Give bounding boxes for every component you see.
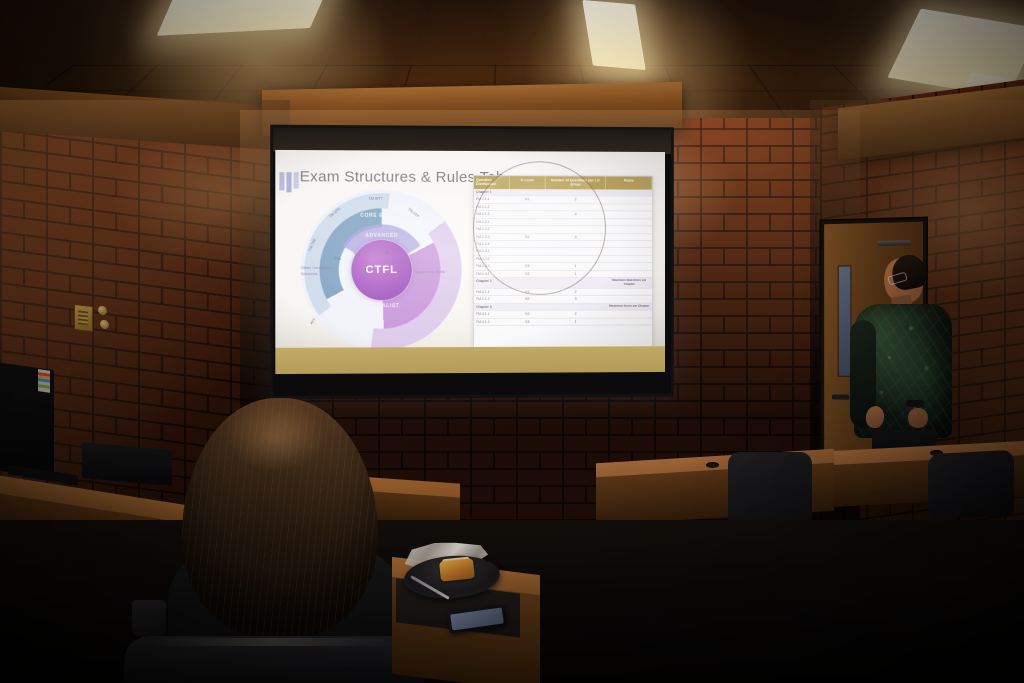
table-cell-distribution: FM-1.4.1 bbox=[474, 271, 510, 277]
wheel-tag-7: ATT bbox=[309, 318, 316, 326]
istqb-certification-wheel: CORE EXPERT ADVANCED SPECIALIST CTFL Oth… bbox=[298, 186, 465, 364]
table-cell-distribution: FM-2.1.1 bbox=[474, 289, 510, 295]
table-cell-rules bbox=[606, 189, 652, 196]
screen-surface: Exam Structures & Rules Tab CORE EXPERT … bbox=[275, 150, 665, 374]
wheel-center-ctfl: CTFL bbox=[351, 240, 411, 300]
chair-far-right[interactable] bbox=[928, 450, 1014, 521]
table-cell-distribution: FM-3.1.1 bbox=[474, 311, 510, 318]
table-row: FM-3.1.2K31 bbox=[474, 318, 652, 326]
table-col-klevel: K-Level bbox=[510, 176, 545, 189]
wheel-tag-4: TM bbox=[354, 253, 359, 257]
table-col-rules: Rules bbox=[606, 177, 652, 190]
table-cell-distribution: Chapter 1 bbox=[474, 189, 510, 196]
table-cell-distribution: FM-3.1.2 bbox=[474, 318, 510, 325]
table-cell-klevel bbox=[510, 304, 545, 310]
table-body: Chapter 1FM-1.1.1K12FM-1.1.2FM-1.1.34FM-… bbox=[474, 189, 652, 326]
table-header-row: Question Distribution K-Level Number of … bbox=[474, 176, 652, 190]
cable-grommet-2 bbox=[706, 462, 719, 468]
door-push-bar[interactable] bbox=[877, 240, 911, 246]
table-cell-questions: 1 bbox=[545, 271, 607, 277]
presentation-slide: Exam Structures & Rules Tab CORE EXPERT … bbox=[275, 150, 665, 374]
wheel-tag-5: TA bbox=[385, 251, 389, 255]
standing-presenter bbox=[846, 258, 958, 458]
wheel-label-specialist: SPECIALIST bbox=[346, 303, 417, 309]
table-cell-rules bbox=[606, 204, 652, 210]
table-cell-rules bbox=[606, 271, 652, 277]
table-cell-distribution: FM-2.1.2 bbox=[474, 296, 510, 302]
exam-structure-table: Question Distribution K-Level Number of … bbox=[473, 175, 653, 363]
table-cell-rules bbox=[606, 296, 652, 302]
wristwatch bbox=[906, 400, 924, 407]
slide-decoration-bars bbox=[279, 172, 298, 192]
table-cell-klevel bbox=[510, 226, 545, 232]
table-row: FM-1.3.3K31 bbox=[474, 263, 652, 270]
smartphone-screen[interactable] bbox=[450, 607, 504, 630]
table-row: Chapter 2Maximum Questions per Chapter bbox=[474, 278, 652, 289]
table-cell-rules bbox=[606, 289, 652, 295]
table-cell-questions: 4 bbox=[545, 211, 607, 218]
table-cell-klevel: K2 bbox=[510, 311, 545, 317]
table-cell-rules bbox=[606, 241, 652, 247]
table-cell-distribution: Chapter 3 bbox=[474, 304, 510, 310]
table-cell-distribution: FM-1.1.1 bbox=[474, 196, 510, 203]
table-cell-distribution: FM-1.3.1 bbox=[474, 248, 510, 254]
seated-attendee bbox=[168, 398, 404, 683]
table-col-distribution: Question Distribution bbox=[474, 176, 510, 189]
table-cell-rules bbox=[606, 311, 652, 317]
chair-attendee-highlight bbox=[148, 638, 398, 646]
table-cell-rules bbox=[606, 226, 652, 232]
table-cell-klevel bbox=[510, 241, 545, 247]
table-cell-distribution: FM-1.2.4 bbox=[474, 241, 510, 247]
table-cell-questions: 1 bbox=[545, 263, 607, 269]
table-cell-klevel bbox=[510, 189, 545, 196]
monitor-sticker bbox=[38, 369, 50, 393]
table-cell-distribution: FM-1.1.3 bbox=[474, 211, 510, 217]
table-cell-klevel bbox=[510, 219, 545, 225]
table-cell-rules bbox=[606, 219, 652, 225]
wheel-tag-0: TM-WTT bbox=[369, 197, 383, 201]
table-cell-klevel bbox=[510, 248, 545, 254]
screen-bottom-band bbox=[275, 346, 665, 374]
table-cell-questions bbox=[545, 189, 607, 196]
table-cell-rules bbox=[606, 248, 652, 254]
table-cell-klevel: K2 bbox=[510, 234, 545, 240]
wheel-label-advanced: ADVANCED bbox=[348, 233, 415, 239]
table-cell-questions bbox=[545, 248, 607, 254]
mug[interactable] bbox=[132, 600, 166, 636]
wall-knob-lower[interactable] bbox=[100, 319, 109, 329]
presenter-hand-right bbox=[908, 408, 928, 428]
table-row: FM-1.2.4 bbox=[474, 241, 652, 249]
table-cell-questions: 2 bbox=[545, 311, 607, 318]
table-cell-klevel bbox=[510, 204, 545, 210]
table-row: FM-1.4.1K21 bbox=[474, 271, 652, 278]
table-row: FM-1.3.1 bbox=[474, 248, 652, 255]
table-cell-rules bbox=[606, 234, 652, 240]
table-cell-rules bbox=[606, 263, 652, 269]
table-cell-rules: Maximum Questions per Chapter bbox=[606, 278, 652, 288]
table-cell-distribution: FM-1.1.2 bbox=[474, 204, 510, 211]
table-cell-questions: 2 bbox=[545, 197, 607, 204]
classroom-scene: Exam Structures & Rules Tab CORE EXPERT … bbox=[0, 0, 1024, 683]
table-cell-questions bbox=[545, 256, 607, 262]
table-cell-distribution: FM-1.2.2 bbox=[474, 226, 510, 232]
table-cell-rules bbox=[606, 197, 652, 204]
wall-knob-upper[interactable] bbox=[98, 305, 107, 315]
table-cell-klevel: K2 bbox=[510, 271, 545, 277]
table-cell-questions bbox=[545, 241, 607, 247]
table-cell-klevel bbox=[510, 256, 545, 262]
table-cell-klevel bbox=[510, 278, 545, 288]
table-cell-questions: 1 bbox=[545, 318, 607, 325]
attendee-hair-highlight bbox=[226, 402, 326, 472]
table-cell-distribution: Chapter 2 bbox=[474, 278, 510, 288]
table-cell-klevel: K3 bbox=[510, 263, 545, 269]
table-cell-questions: 3 bbox=[545, 296, 607, 303]
table-cell-questions bbox=[545, 204, 607, 211]
wheel-center-label: CTFL bbox=[365, 264, 397, 276]
table-cell-klevel: K1 bbox=[510, 289, 545, 295]
table-cell-questions bbox=[545, 219, 607, 226]
table-cell-questions bbox=[545, 278, 607, 288]
table-cell-klevel: K1 bbox=[510, 197, 545, 204]
wheel-note-other-schemes: Other CertificationSchemes bbox=[301, 265, 334, 277]
table-cell-rules bbox=[606, 318, 652, 325]
table-cell-distribution: FM-1.3.3 bbox=[474, 263, 510, 269]
table-cell-distribution: FM-1.2.3 bbox=[474, 234, 510, 240]
table-col-questions: Number of Questions per LO group bbox=[545, 176, 606, 189]
table-cell-distribution: FM-1.2.1 bbox=[474, 219, 510, 225]
table-cell-questions: 2 bbox=[545, 289, 607, 295]
table-cell-questions bbox=[545, 303, 607, 310]
table-cell-questions: 3 bbox=[545, 234, 607, 240]
table-cell-questions bbox=[545, 226, 607, 232]
wheel-tag-6: TTA bbox=[334, 257, 341, 261]
table-row: FM-1.3.2 bbox=[474, 256, 652, 263]
plate-grille-icon bbox=[78, 309, 88, 325]
wheel-note-supporting-skills: Supporting Skills bbox=[415, 269, 445, 275]
table-cell-rules bbox=[606, 212, 652, 218]
table-cell-distribution: FM-1.3.2 bbox=[474, 256, 510, 262]
wheel-label-core-expert: CORE EXPERT bbox=[344, 213, 419, 219]
pastry-food-item[interactable] bbox=[439, 558, 475, 581]
table-cell-klevel bbox=[510, 211, 545, 217]
projection-screen: Exam Structures & Rules Tab CORE EXPERT … bbox=[270, 125, 674, 400]
table-cell-klevel: K2 bbox=[510, 296, 545, 302]
table-cell-rules bbox=[606, 256, 652, 262]
light-panel-center bbox=[582, 0, 646, 70]
table-cell-klevel: K3 bbox=[510, 318, 545, 325]
table-cell-rules: Maximum Score per Chapter bbox=[606, 303, 652, 309]
wall-control-plate[interactable] bbox=[74, 304, 93, 332]
